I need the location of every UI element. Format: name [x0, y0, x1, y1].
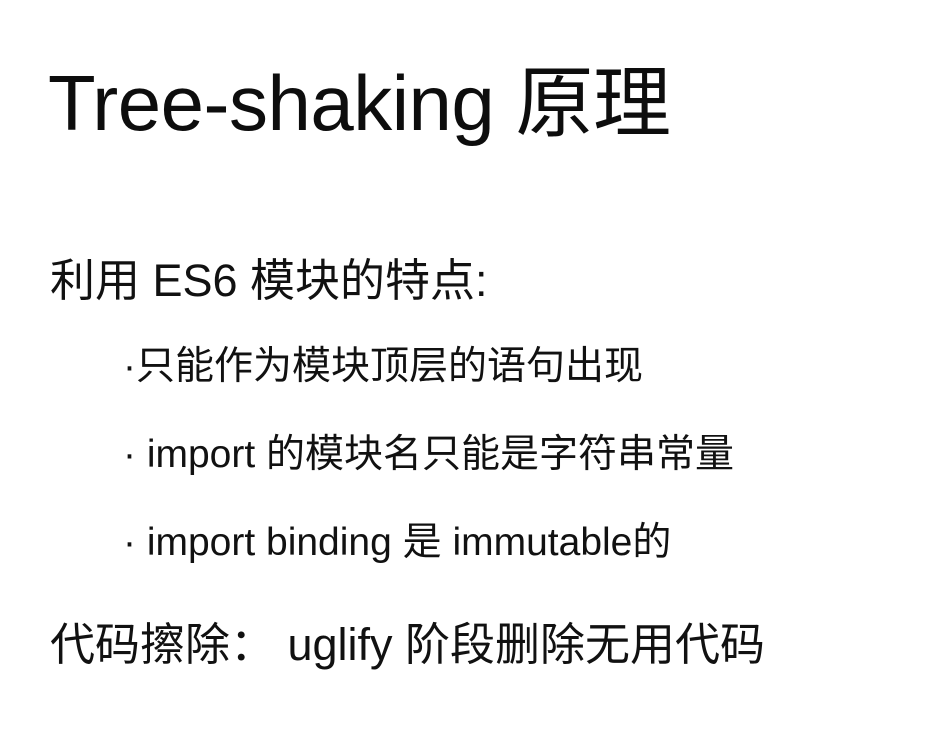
lead-line: 利用 ES6 模块的特点: [0, 258, 948, 303]
bullet-list: ·只能作为模块顶层的语句出现 · import 的模块名只能是字符串常量 · i… [0, 347, 948, 562]
list-item: · import binding 是 immutable的 [0, 523, 948, 562]
list-item: · import 的模块名只能是字符串常量 [0, 435, 948, 474]
presentation-slide: Tree-shaking 原理 利用 ES6 模块的特点: ·只能作为模块顶层的… [0, 0, 948, 740]
slide-title: Tree-shaking 原理 [48, 60, 670, 147]
list-item: ·只能作为模块顶层的语句出现 [0, 347, 948, 386]
slide-body: 利用 ES6 模块的特点: ·只能作为模块顶层的语句出现 · import 的模… [0, 258, 948, 667]
closing-line: 代码擦除： uglify 阶段删除无用代码 [0, 622, 948, 667]
